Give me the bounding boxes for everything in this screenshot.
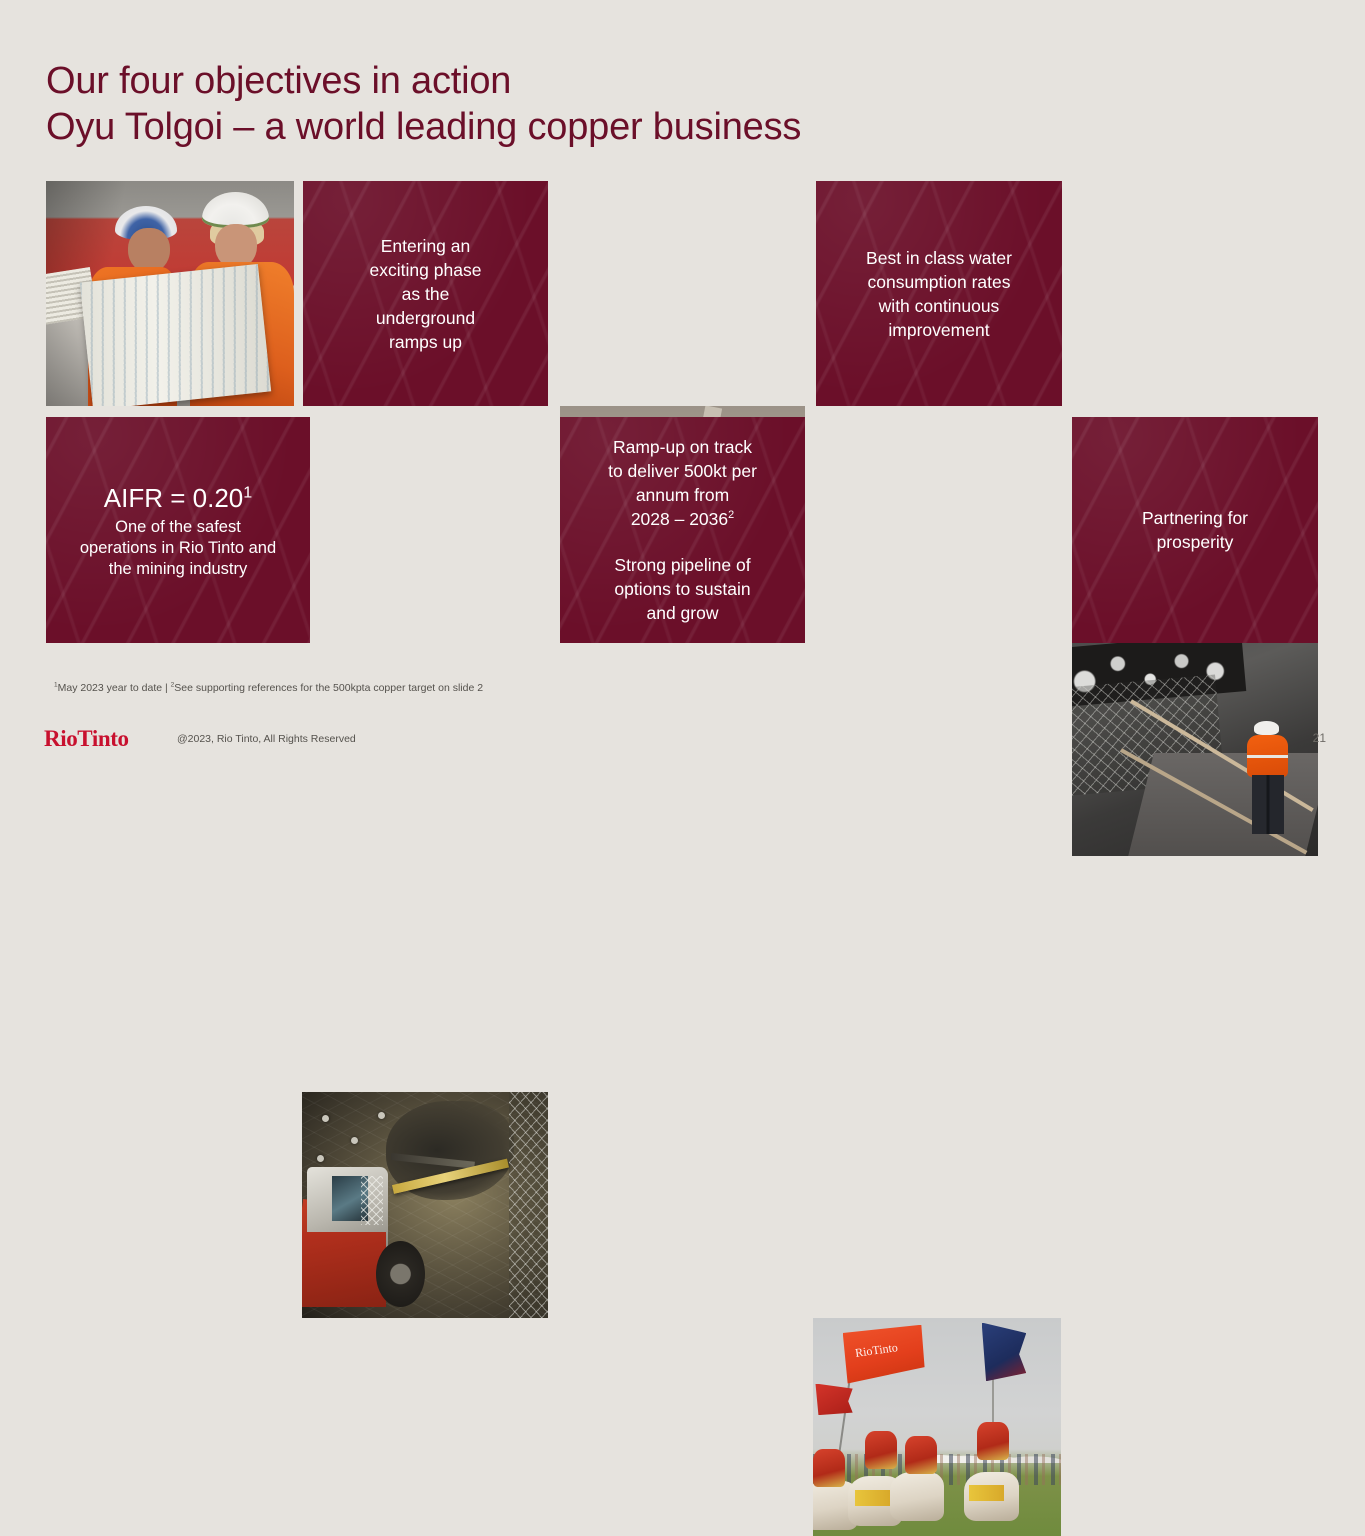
tile-riders-photo: RioTinto: [813, 1318, 1061, 1536]
photo-drill-scene: [302, 1092, 548, 1318]
mine-plan-map: [79, 264, 270, 406]
rider-2: [865, 1431, 897, 1469]
rider-1: [813, 1449, 845, 1487]
tile-drill-photo: [302, 1092, 548, 1318]
worker-trousers: [1252, 775, 1284, 834]
rig-wheel: [376, 1241, 425, 1307]
worker-reflective-stripe: [1247, 755, 1289, 758]
rock-bolt-plate-2: [351, 1137, 358, 1144]
tile-entering-phase-text: Entering an exciting phase as the underg…: [370, 234, 482, 354]
objectives-tile-grid: Entering an exciting phase as the underg…: [46, 181, 1318, 643]
rock-bolt-plate-3: [317, 1155, 324, 1162]
photo-riders-scene: RioTinto: [813, 1318, 1061, 1536]
tile-ramp-up-text-primary: Ramp-up on track to deliver 500kt per an…: [608, 435, 757, 531]
rig-cab-mesh-guard: [361, 1176, 383, 1226]
tile-water-consumption: Best in class water consumption rates wi…: [816, 181, 1062, 406]
tile-ramp-up-text-secondary: Strong pipeline of options to sustain an…: [614, 553, 750, 625]
tile-ramp-up-footnote-marker: 2: [728, 509, 734, 521]
photo-conveyor-scene: [1072, 631, 1318, 856]
rig-chassis: [302, 1232, 386, 1307]
saddle-4: [969, 1485, 1004, 1501]
page-title-line-2: Oyu Tolgoi – a world leading copper busi…: [46, 104, 1146, 150]
page-number: 21: [1313, 731, 1326, 745]
tile-aifr: AIFR = 0.201 One of the safest operation…: [46, 417, 310, 643]
rider-3: [905, 1436, 937, 1474]
rock-bolt-plate-1: [322, 1115, 329, 1122]
hard-hat-white: [202, 192, 269, 228]
tile-partnering: Partnering for prosperity: [1072, 417, 1318, 643]
tile-aifr-value: AIFR = 0.20: [104, 483, 243, 513]
saddle-2: [855, 1490, 890, 1506]
footnote-text-2: See supporting references for the 500kpt…: [174, 682, 483, 694]
rider-4: [977, 1422, 1009, 1460]
photo-workers-scene: [46, 181, 294, 406]
horse-3: [890, 1472, 945, 1522]
tile-conveyor-photo: [1072, 631, 1318, 856]
tile-entering-phase: Entering an exciting phase as the underg…: [303, 181, 548, 406]
tunnel-wall-mesh: [509, 1092, 548, 1318]
tile-aifr-subtext: One of the safest operations in Rio Tint…: [80, 517, 276, 580]
worker-hard-hat: [1254, 721, 1279, 735]
footnote-text-1: May 2023 year to date |: [58, 682, 171, 694]
tile-workers-photo: [46, 181, 294, 406]
page-title-line-1: Our four objectives in action: [46, 58, 1146, 104]
navy-ceremonial-flag: [982, 1323, 1027, 1382]
tile-ramp-up: Ramp-up on track to deliver 500kt per an…: [560, 417, 805, 643]
small-red-flag: [815, 1384, 852, 1416]
rio-tinto-logo: RioTinto: [44, 726, 129, 752]
rock-bolt-plate-4: [378, 1112, 385, 1119]
copyright-notice: @2023, Rio Tinto, All Rights Reserved: [177, 733, 356, 745]
footnote: 1May 2023 year to date | 2See supporting…: [54, 681, 483, 695]
page-title: Our four objectives in action Oyu Tolgoi…: [46, 58, 1146, 150]
tile-water-consumption-text: Best in class water consumption rates wi…: [866, 246, 1012, 342]
tile-aifr-headline: AIFR = 0.201: [104, 481, 252, 515]
tile-partnering-text: Partnering for prosperity: [1142, 506, 1248, 554]
tile-ramp-up-target: Ramp-up on track to deliver 500kt per an…: [608, 437, 757, 529]
tile-aifr-footnote-marker: 1: [243, 483, 252, 501]
